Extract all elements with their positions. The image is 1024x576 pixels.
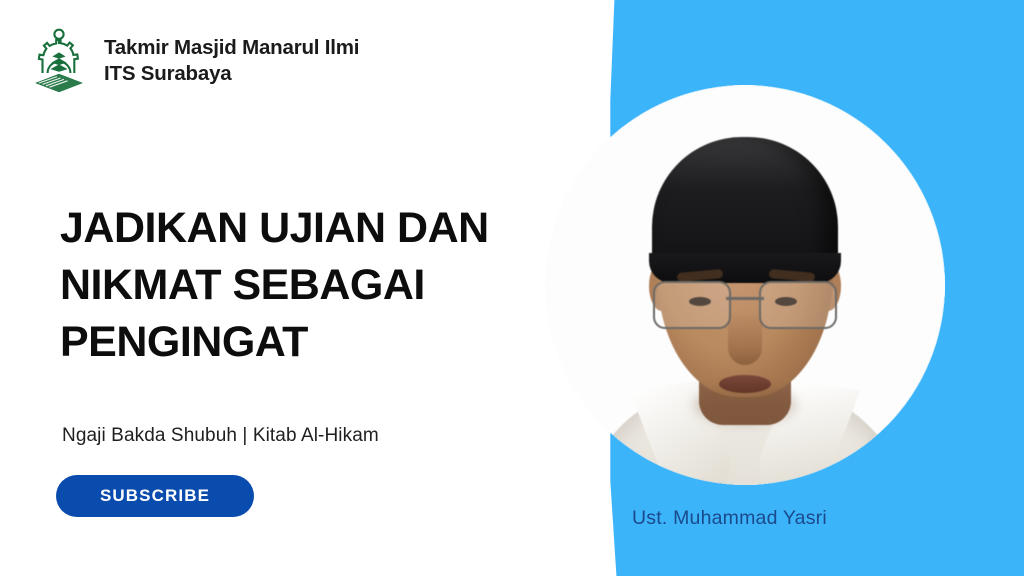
- eyeglass-bridge: [726, 297, 764, 300]
- program-subtitle: Ngaji Bakda Shubuh | Kitab Al-Hikam: [62, 425, 379, 447]
- page-title: JADIKAN UJIAN DAN NIKMAT SEBAGAI PENGING…: [60, 200, 530, 372]
- chin-shading: [693, 385, 797, 425]
- speaker-portrait-circle: [545, 85, 945, 485]
- eyeglass-lens-left: [653, 281, 731, 329]
- subscribe-button[interactable]: SUBSCRIBE: [56, 475, 254, 517]
- video-thumbnail-poster: Takmir Masjid Manarul Ilmi ITS Surabaya …: [0, 0, 1024, 576]
- mosque-book-emblem-icon: [30, 28, 88, 94]
- speaker-name-label: Ust. Muhammad Yasri: [632, 507, 827, 530]
- eyeglass-lens-right: [759, 281, 837, 329]
- organization-logo-lockup: Takmir Masjid Manarul Ilmi ITS Surabaya: [30, 28, 359, 94]
- nose-shape: [728, 311, 762, 365]
- speaker-photo: [545, 85, 945, 485]
- organization-name: Takmir Masjid Manarul Ilmi ITS Surabaya: [104, 35, 359, 87]
